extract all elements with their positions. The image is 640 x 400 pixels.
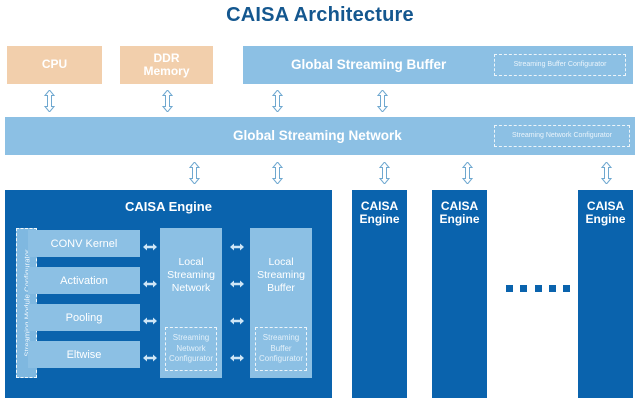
caisa-engine-side-3: CAISA Engine [578,190,633,398]
arrow-activation-to-lsn [143,276,157,286]
caisa-engine-side-1: CAISA Engine [352,190,407,398]
side-3-line2: Engine [585,212,625,226]
module-activation: Activation [28,267,140,294]
local-streaming-network-title: Local Streaming Network [160,256,222,295]
caisa-engine-side-2: CAISA Engine [432,190,487,398]
lsb-title-line1: Local [268,256,293,268]
streaming-network-configurator-inner-chip: Streaming Network Configurator [165,327,217,371]
ddr-memory-block: DDR Memory [120,46,213,84]
lsn-cfg-line2: Network [176,344,205,353]
side-1-line2: Engine [359,212,399,226]
module-conv-kernel-label: CONV Kernel [51,238,118,250]
lsn-title-line3: Network [172,282,211,294]
streaming-network-configurator-chip: Streaming Network Configurator [494,125,630,147]
global-streaming-buffer-label: Global Streaming Buffer [291,57,446,72]
ddr-label-line1: DDR [154,52,180,65]
page-title: CAISA Architecture [0,4,640,27]
ellipsis-dot [535,285,542,292]
arrow-ddr-to-network [162,90,173,112]
side-3-line1: CAISA [587,199,624,213]
streaming-buffer-configurator-inner-chip: Streaming Buffer Configurator [255,327,307,371]
lsb-title-line2: Streaming [257,269,305,281]
arrow-network-to-engine-3 [462,162,473,184]
arrow-eltwise-to-lsn [143,350,157,360]
arrow-network-to-engine-1a [189,162,200,184]
lsn-title-line1: Local [178,256,203,268]
arrow-network-to-engine-1b [272,162,283,184]
streaming-buffer-configurator-label: Streaming Buffer Configurator [514,61,607,69]
ellipsis-dot [563,285,570,292]
arrow-network-to-engine-4 [601,162,612,184]
side-1-line1: CAISA [361,199,398,213]
ellipsis-dot [506,285,513,292]
arrow-lsn-to-lsb-4 [230,350,244,360]
global-streaming-network-label: Global Streaming Network [233,128,402,143]
caisa-engine-main-title: CAISA Engine [5,199,332,214]
arrow-gsb-left-to-network [272,90,283,112]
lsn-title-line2: Streaming [167,269,215,281]
caisa-engine-side-1-label: CAISA Engine [352,200,407,227]
lsb-cfg-line3: Configurator [259,354,303,363]
local-streaming-buffer-title: Local Streaming Buffer [250,256,312,295]
module-eltwise-label: Eltwise [67,349,102,361]
module-pooling-label: Pooling [66,312,103,324]
lsn-cfg-line3: Configurator [169,354,213,363]
arrow-network-to-engine-2 [379,162,390,184]
caisa-engine-side-3-label: CAISA Engine [578,200,633,227]
arrow-gsb-right-to-network [377,90,388,112]
lsb-cfg-line2: Buffer [270,344,291,353]
arrow-lsn-to-lsb-3 [230,313,244,323]
module-pooling: Pooling [28,304,140,331]
ellipsis-dot [520,285,527,292]
arrow-lsn-to-lsb-2 [230,276,244,286]
local-streaming-network-block: Local Streaming Network Streaming Networ… [160,228,222,378]
arrow-conv-to-lsn [143,239,157,249]
local-streaming-buffer-block: Local Streaming Buffer Streaming Buffer … [250,228,312,378]
ellipsis-dot [549,285,556,292]
lsb-cfg-line1: Streaming [263,333,299,342]
streaming-buffer-configurator-chip: Streaming Buffer Configurator [494,54,626,76]
ddr-label-line2: Memory [143,65,189,78]
streaming-network-configurator-label: Streaming Network Configurator [512,132,612,140]
arrow-lsn-to-lsb-1 [230,239,244,249]
caisa-architecture-diagram: CAISA Architecture CPU DDR Memory Global… [0,0,640,400]
side-2-line2: Engine [439,212,479,226]
module-eltwise: Eltwise [28,341,140,368]
cpu-block: CPU [7,46,102,84]
caisa-engine-side-2-label: CAISA Engine [432,200,487,227]
arrow-pooling-to-lsn [143,313,157,323]
lsb-title-line3: Buffer [267,282,295,294]
arrow-cpu-to-network [44,90,55,112]
lsn-cfg-line1: Streaming [173,333,209,342]
ellipsis-dots [506,284,570,292]
side-2-line1: CAISA [441,199,478,213]
module-conv-kernel: CONV Kernel [28,230,140,257]
module-activation-label: Activation [60,275,108,287]
cpu-label: CPU [42,58,67,71]
